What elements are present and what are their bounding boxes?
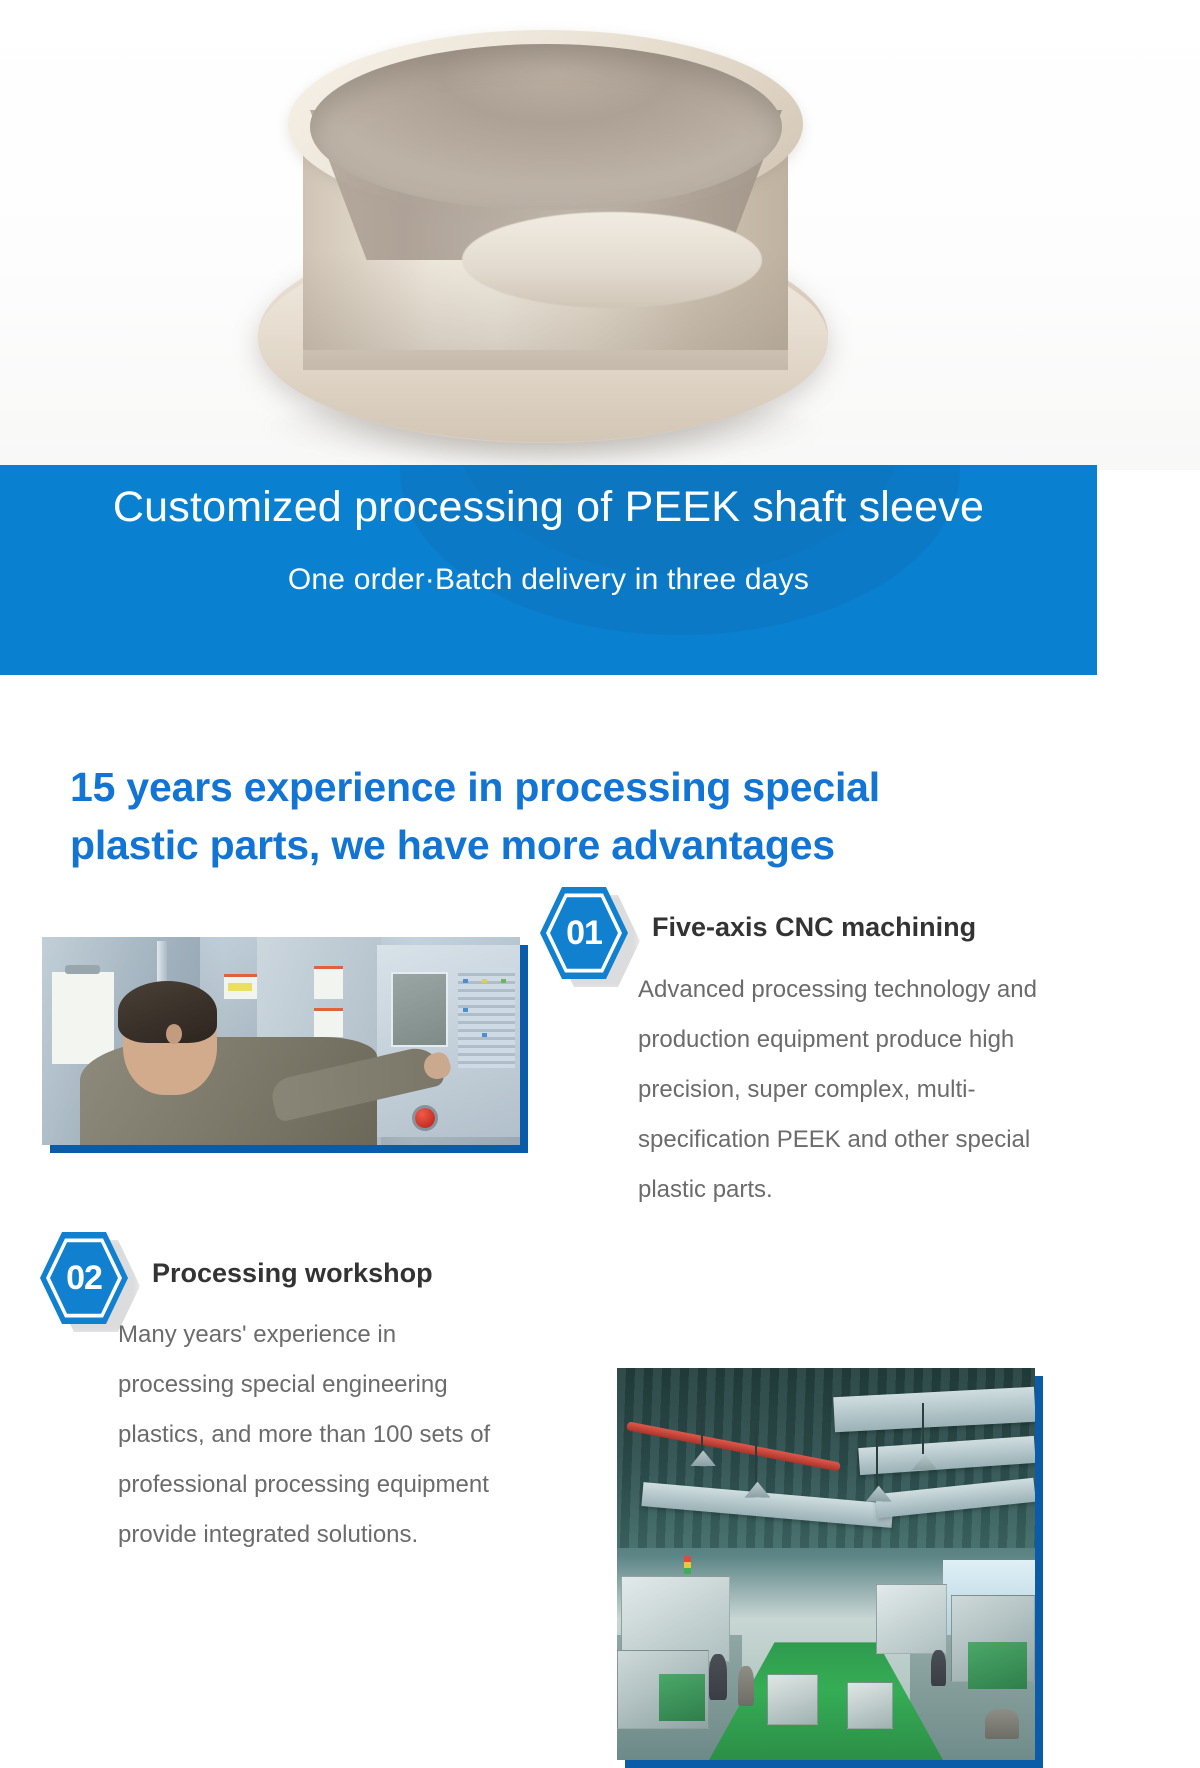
cnc-key-blue-2 [463,1008,468,1012]
workshop-machine-left-green [659,1674,705,1721]
hero-product-image [0,0,1200,470]
feature-01-body: Advanced processing technology and produ… [638,965,1068,1215]
section-heading-line2: plastic parts, we have more advantages [70,816,1080,874]
cnc-display-screen [391,972,448,1047]
section-heading-line1: 15 years experience in processing specia… [70,758,1080,816]
workshop-lamp-rod-3 [922,1403,924,1454]
cnc-key-blue-3 [482,1033,487,1037]
workshop-person-4 [985,1709,1019,1739]
product-bore-floor [462,212,762,308]
feature-02-title: Processing workshop [152,1258,433,1289]
cnc-key-blue-1 [463,979,468,983]
feature-02-photo [617,1368,1035,1760]
section-heading: 15 years experience in processing specia… [70,758,1080,874]
banner-subtitle: One order·Batch delivery in three days [0,563,1097,597]
workshop-machine-left-1 [621,1576,730,1662]
feature-01-photo [42,937,520,1145]
workshop-cart-1 [767,1674,817,1725]
cnc-emergency-stop-button [415,1108,435,1128]
workshop-machine-right-1 [876,1584,947,1655]
feature-02-badge: 02 [40,1229,128,1327]
workshop-lamp-rod-2 [755,1423,757,1482]
cnc-warning-label-4 [314,1008,343,1037]
feature-02-body: Many years' experience in processing spe… [118,1310,518,1560]
product-bore-inner [310,44,782,210]
cnc-key-yellow-1 [482,979,487,983]
workshop-lamp-rod-4 [876,1431,878,1486]
banner-title: Customized processing of PEEK shaft slee… [0,483,1097,532]
cnc-clipboard [52,972,114,1064]
workshop-person-3 [931,1650,946,1686]
workshop-cart-2 [847,1682,893,1729]
product-illustration [0,0,1200,470]
feature-01-badge: 01 [540,884,628,982]
hero-banner: Customized processing of PEEK shaft slee… [0,465,1097,675]
workshop-person-1 [709,1654,727,1700]
workshop-person-2 [738,1666,754,1706]
cnc-keypad [458,968,515,1068]
feature-01-number: 01 [566,916,602,951]
feature-01-title: Five-axis CNC machining [652,912,976,943]
cnc-warning-label-2 [228,983,252,991]
workshop-lamp-rod-1 [701,1399,703,1450]
workshop-machine-right-green [968,1642,1027,1689]
cnc-warning-label-3 [314,966,343,999]
feature-02-number: 02 [66,1261,102,1296]
cnc-key-green-1 [501,979,506,983]
workshop-signal-tower-1 [684,1556,691,1574]
